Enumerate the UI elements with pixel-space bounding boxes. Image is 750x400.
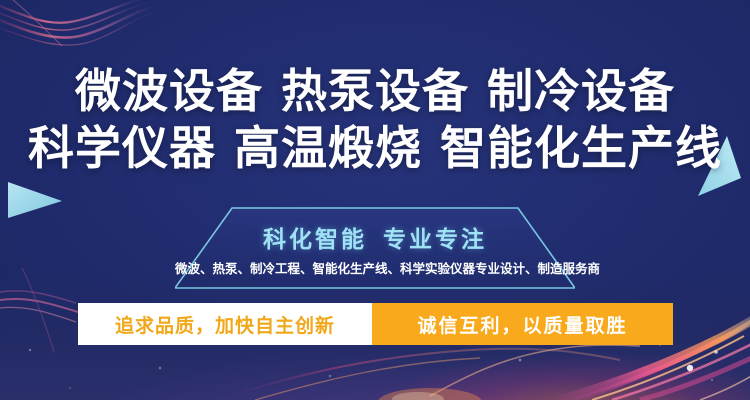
- headline-word-3: 制冷设备: [487, 64, 675, 118]
- headline-word-2: 热泵设备: [281, 64, 469, 118]
- headline-word-4: 科学仪器: [28, 121, 216, 175]
- slogan-part-1: 科化智能: [263, 227, 367, 253]
- headline-line-2: 科学仪器高温煅烧智能化生产线: [0, 120, 750, 177]
- slogan-cyan: 科化智能专业专注: [175, 220, 575, 254]
- cta-bar: 追求品质，加快自主创新 诚信互利，以质量取胜: [78, 303, 673, 345]
- cta-left-slogan[interactable]: 追求品质，加快自主创新: [78, 303, 372, 345]
- slogan-trapezoid: 科化智能专业专注 微波、热泵、制冷工程、智能化生产线、科学实验仪器专业设计、制造…: [175, 206, 575, 290]
- headline-word-6: 智能化生产线: [440, 121, 722, 175]
- headline-word-1: 微波设备: [75, 64, 263, 118]
- headline: 微波设备热泵设备制冷设备 科学仪器高温煅烧智能化生产线: [0, 63, 750, 177]
- slogan-part-2: 专业专注: [383, 227, 487, 253]
- service-description: 微波、热泵、制冷工程、智能化生产线、科学实验仪器专业设计、制造服务商: [175, 258, 575, 277]
- headline-line-1: 微波设备热泵设备制冷设备: [0, 63, 750, 120]
- cta-right-slogan[interactable]: 诚信互利，以质量取胜: [372, 303, 673, 345]
- headline-word-5: 高温煅烧: [234, 121, 422, 175]
- promo-banner: 微波设备热泵设备制冷设备 科学仪器高温煅烧智能化生产线 科化智能专业专注 微波、…: [0, 0, 750, 400]
